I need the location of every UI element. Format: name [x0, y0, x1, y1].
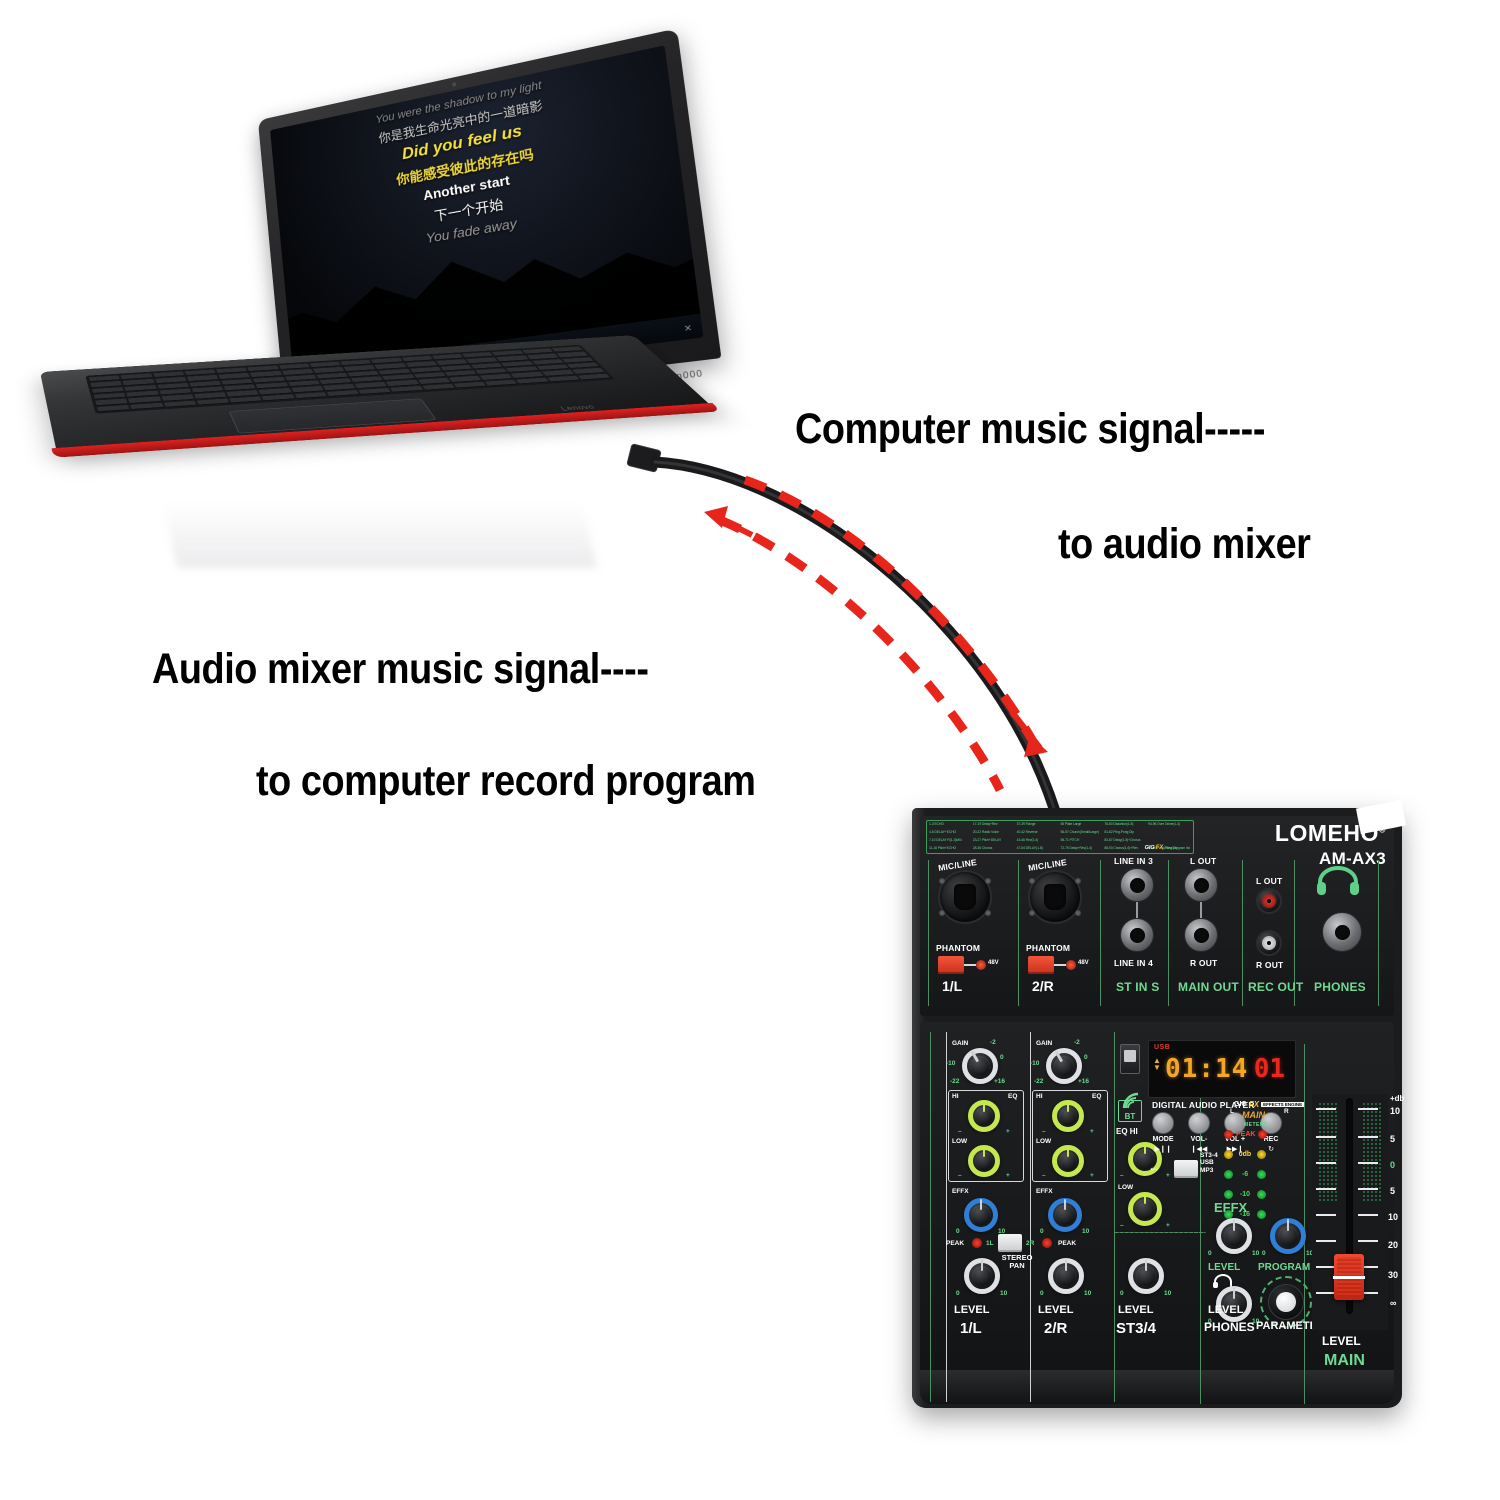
effx-label-1: EFFX [952, 1188, 969, 1195]
eq-low-knob-1[interactable] [968, 1145, 1000, 1177]
fader-texture-right [1362, 1102, 1382, 1202]
level-knob-2[interactable] [1048, 1258, 1084, 1294]
line-in-3-jack[interactable] [1120, 868, 1154, 902]
level-label-1: LEVEL [954, 1304, 989, 1316]
gain-knob-1[interactable] [962, 1048, 998, 1084]
eq-plus-2: + [1090, 1128, 1094, 1135]
gain-scale: -2 [990, 1039, 996, 1046]
fx-entry: 83-87 Delay(1-5)+Chorus [1104, 839, 1147, 843]
peak-led-1 [972, 1238, 982, 1248]
xlr-combo-jack-2[interactable] [1028, 870, 1082, 924]
fader-scale-m5: 5 [1390, 1186, 1395, 1196]
effx-master-max: 10 [1252, 1250, 1259, 1257]
main-fader-zone [1312, 1094, 1388, 1330]
program-knob[interactable] [1270, 1218, 1306, 1254]
mixer-front-lip [920, 1370, 1394, 1404]
eq-plus-1: + [1006, 1172, 1010, 1179]
gain-scale: -22 [1034, 1078, 1043, 1085]
effx-knob-2[interactable] [1048, 1198, 1082, 1232]
xlr-combo-jack-1[interactable] [938, 870, 992, 924]
st-level-min: 0 [1120, 1290, 1124, 1297]
vu-row-label: -10 [1236, 1191, 1254, 1198]
laptop-base: Lenovo [40, 335, 713, 453]
phones-jack[interactable] [1322, 912, 1362, 952]
eq-low-knob-2[interactable] [1052, 1145, 1084, 1177]
vu-row: 0db [1224, 1150, 1266, 1159]
rec-out-r-rca[interactable] [1256, 930, 1282, 956]
st-low-label: LOW [1118, 1184, 1133, 1191]
fader-texture-left [1318, 1102, 1338, 1202]
bt-badge: BT [1118, 1100, 1142, 1122]
st-level-max: 10 [1164, 1290, 1171, 1297]
fx-column: 1-3 ECHO 4-6 DELAY+ECHO 7-10 DELAY R(1-3… [929, 823, 972, 851]
stereo-pan-label: STEREO PAN [994, 1254, 1040, 1271]
fx-column: 76-80 Distortion(1-5) 81-82 Ping-Pong Dl… [1104, 823, 1147, 851]
audio-mixer-device: 1-3 ECHO 4-6 DELAY+ECHO 7-10 DELAY R(1-3… [912, 808, 1402, 1408]
usb-port[interactable] [1120, 1044, 1140, 1074]
fx-entry: 4-6 DELAY+ECHO [929, 831, 972, 835]
front-divider [1114, 1032, 1115, 1402]
eq-label-2: EQ [1092, 1093, 1101, 1100]
front-divider [1200, 1044, 1201, 1404]
source-mp3: MP3 [1200, 1167, 1218, 1174]
fader-scale-10: 10 [1390, 1106, 1400, 1116]
line-in-4-jack[interactable] [1120, 918, 1154, 952]
eq-hi-label-1: HI [952, 1093, 959, 1100]
gain-knob-2[interactable] [1046, 1048, 1082, 1084]
gain-scale: 0 [1000, 1054, 1004, 1061]
bt-text: BT [1125, 1112, 1136, 1121]
st-level-label: LEVEL [1118, 1304, 1153, 1316]
fx-entry: 1-3 ECHO [929, 823, 972, 827]
arrow-mixer-to-computer [720, 520, 1000, 790]
phantom-led-1 [976, 960, 986, 970]
effx-min-2: 0 [1040, 1228, 1044, 1235]
eq-plus-1: + [1006, 1128, 1010, 1135]
level-label-2: LEVEL [1038, 1304, 1073, 1316]
peak-led-2 [1042, 1238, 1052, 1248]
fx-column: 17-19 Delay+Rev 20-22 Radio Voice 23-27 … [973, 823, 1016, 851]
eq-hi-knob-1[interactable] [968, 1100, 1000, 1132]
fx-column: 37-39 Flange 40-42 Reverse 43-46 Rev(3-4… [1017, 823, 1060, 851]
jack-link [1200, 902, 1202, 918]
st-channel-id: ST3/4 [1116, 1320, 1156, 1337]
level-min-2: 0 [1040, 1290, 1044, 1297]
main-fader-level-label: LEVEL [1322, 1334, 1361, 1348]
fader-scale-m10: 10 [1388, 1212, 1398, 1222]
annotation-computer-signal: Computer music signal----- [795, 405, 1265, 454]
webcam-icon [452, 82, 457, 87]
led-display: USB ▲▼ 01:14 01 [1148, 1040, 1296, 1098]
vu-main-label: MAIN [1242, 1110, 1265, 1120]
effx-min-1: 0 [956, 1228, 960, 1235]
phantom-trace-2 [1054, 964, 1066, 966]
peak-label-2: PEAK [1058, 1240, 1076, 1247]
level-min-1: 0 [956, 1290, 960, 1297]
panel-divider [1242, 860, 1243, 1006]
panel-divider [928, 860, 929, 1006]
eq-hi-label-2: HI [1036, 1093, 1043, 1100]
front-divider [946, 1032, 947, 1402]
peak-tag-1: 1L [986, 1240, 994, 1247]
gigfx2-gig: GIG [1234, 1101, 1247, 1108]
vol-down-label: VOL- [1182, 1136, 1216, 1143]
source-usb: USB [1200, 1159, 1218, 1166]
eq-plus-2: + [1090, 1172, 1094, 1179]
rec-out-group-label: REC OUT [1248, 980, 1303, 994]
vol-down-button[interactable] [1188, 1112, 1210, 1134]
prev-track-icon: ❙◀◀ [1182, 1145, 1216, 1153]
phantom-led-2 [1066, 960, 1076, 970]
main-fader-handle[interactable] [1334, 1254, 1364, 1300]
main-l-out-label: L OUT [1190, 856, 1216, 866]
phantom-voltage-2: 48V [1078, 960, 1089, 966]
eq-hi-knob-2[interactable] [1052, 1100, 1084, 1132]
fx-entry: 72-75 Delay+Rev(1-4) [1060, 847, 1103, 851]
fx-entry: 40-42 Reverse [1017, 831, 1060, 835]
fx-entry: 17-19 Delay+Rev [973, 823, 1016, 827]
fx-entry: 47-54 DELAY(1-8) [1017, 847, 1060, 851]
phones-sub-label: PHONES [1204, 1320, 1255, 1334]
line-in-4-label: LINE IN 4 [1114, 958, 1153, 968]
laptop-reflection [163, 502, 597, 568]
fx-column: 55 Plate Large 56-57 Church(Small/Large)… [1060, 823, 1103, 851]
gigfx2-fx: FX [1249, 1100, 1259, 1109]
vu-left-label: L [1230, 1108, 1234, 1115]
phantom-switch-2[interactable] [1028, 956, 1054, 974]
effx-knob-1[interactable] [964, 1198, 998, 1232]
fader-scale-m30: 30 [1388, 1270, 1398, 1280]
rec-l-out-label: L OUT [1256, 876, 1282, 886]
fader-scale-m20: 20 [1388, 1240, 1398, 1250]
gigfx-fx-text: FX [1156, 845, 1164, 851]
effx-max-2: 10 [1082, 1228, 1089, 1235]
peak-label-1: PEAK [946, 1240, 964, 1247]
program-label: PROGRAM [1258, 1262, 1310, 1273]
arrow-shaft-to-mixer [1012, 712, 1040, 748]
eq-minus-2: – [1042, 1172, 1046, 1179]
level-max-2: 10 [1084, 1290, 1091, 1297]
panel-divider [1018, 860, 1019, 1006]
effect-program-list: 1-3 ECHO 4-6 DELAY+ECHO 7-10 DELAY R(1-3… [926, 820, 1194, 854]
fader-scale-5: 5 [1390, 1134, 1395, 1144]
close-icon[interactable]: ✕ [683, 322, 693, 333]
gigfx-effects-engine-logo: GIG FX EFFECTS ENGINE [1234, 1100, 1304, 1109]
vu-row-label: 0db [1236, 1151, 1254, 1158]
dashed-divider [1114, 1232, 1206, 1233]
rec-out-l-rca[interactable] [1256, 888, 1282, 914]
rec-r-out-label: R OUT [1256, 960, 1283, 970]
usb-indicator: USB [1154, 1044, 1170, 1051]
gain-scale: -22 [950, 1078, 959, 1085]
fx-entry: 43-46 Rev(3-4) [1017, 839, 1060, 843]
gigfx2-engine: EFFECTS ENGINE [1261, 1102, 1304, 1107]
st-in-group-label: ST IN S [1116, 980, 1159, 994]
phones-group-label: PHONES [1314, 980, 1366, 994]
fader-scale-0: 0 [1390, 1160, 1395, 1170]
fx-entry: 7-10 DELAY R(1-3)MI4 [929, 839, 972, 843]
fx-entry: 88-93 Chorus(1-6)+Rev [1104, 847, 1147, 851]
gain-scale: -10 [1030, 1060, 1039, 1067]
eq-low-label-1: LOW [952, 1138, 967, 1145]
source-st34: ST3-4 [1200, 1152, 1218, 1159]
arrow-shaft-to-computer [718, 518, 752, 535]
eq-low-label-2: LOW [1036, 1138, 1051, 1145]
laptop-device: You were the shadow to my light 你是我生命光亮中… [30, 110, 710, 570]
gain-label-1: GAIN [952, 1040, 968, 1047]
channel-2-strip-id: 2/R [1044, 1320, 1067, 1337]
effx-master-knob[interactable] [1216, 1218, 1252, 1254]
phantom-label-2: PHANTOM [1026, 943, 1070, 953]
eq-label-1: EQ [1008, 1093, 1017, 1100]
fx-entry: 37-39 Flange [1017, 823, 1060, 827]
line-in-3-label: LINE IN 3 [1114, 856, 1153, 866]
brand-block: LOMEHO® AM-AX3 [1275, 820, 1386, 869]
vu-row: -6 [1224, 1170, 1266, 1179]
front-divider [1030, 1032, 1031, 1402]
level-max-1: 10 [1000, 1290, 1007, 1297]
main-out-r-jack[interactable] [1184, 918, 1218, 952]
annotation-to-computer: to computer record program [256, 757, 755, 806]
phantom-trace-1 [964, 964, 976, 966]
effx-master-min: 0 [1208, 1250, 1212, 1257]
stereo-pan-switch[interactable] [998, 1234, 1022, 1252]
phantom-label-1: PHANTOM [936, 943, 980, 953]
fx-entry: 56-57 Church(Small/Large) [1060, 831, 1103, 835]
channel-1-id: 1/L [942, 978, 962, 994]
playback-arrows-icon: ▲▼ [1153, 1057, 1161, 1071]
mode-icon: ▶❙❙ [1146, 1145, 1180, 1153]
channel-2-id: 2/R [1032, 978, 1054, 994]
gigfx-logo: GIG FX Effect program list [1145, 845, 1190, 851]
effx-master-level-label: LEVEL [1208, 1262, 1240, 1273]
track-number: 01 [1254, 1054, 1285, 1084]
arrowhead-to-mixer [1024, 735, 1048, 757]
diagram-canvas: You were the shadow to my light 你是我生命光亮中… [0, 0, 1500, 1500]
eq-low-knob-st[interactable] [1128, 1192, 1162, 1226]
fx-entry: 23-27 Pitch+DELAY [973, 839, 1016, 843]
annotation-mixer-signal: Audio mixer music signal---- [152, 645, 648, 694]
brand-text: LOMEHO [1275, 820, 1379, 846]
fx-entry: 11-16 Pitch+ECHO [929, 847, 972, 851]
phantom-switch-1[interactable] [938, 956, 964, 974]
mode-label: MODE [1146, 1136, 1180, 1143]
eq-minus-1: – [958, 1172, 962, 1179]
vu-meters-label: METERS [1244, 1122, 1268, 1128]
fx-entry: 20-22 Radio Voice [973, 831, 1016, 835]
gain-label-2: GAIN [1036, 1040, 1052, 1047]
fx-entry: 76-80 Distortion(1-5) [1104, 823, 1147, 827]
headphones-icon [1316, 866, 1360, 896]
main-out-group-label: MAIN OUT [1178, 980, 1239, 994]
annotation-to-mixer: to audio mixer [1058, 520, 1310, 569]
vu-right-label: R [1284, 1108, 1289, 1115]
front-divider [930, 1032, 931, 1402]
fx-entry: 94-96 Over Driver(1-3) [1148, 823, 1191, 827]
fx-entry: 58-71 PITCH [1060, 839, 1103, 843]
source-select-switch[interactable] [1174, 1160, 1198, 1178]
eq-minus-1: – [958, 1128, 962, 1135]
track-time: 01:14 [1165, 1054, 1248, 1084]
vu-row-label: PEAK [1236, 1131, 1255, 1138]
gain-scale: 0 [1084, 1054, 1088, 1061]
main-fader-sub-label: MAIN [1324, 1352, 1365, 1370]
fader-db-label: +db [1390, 1094, 1404, 1103]
fader-scale-inf: ∞ [1390, 1298, 1396, 1308]
program-min: 0 [1262, 1250, 1266, 1257]
peak-tag-2: 2R [1026, 1240, 1034, 1247]
mode-button[interactable] [1152, 1112, 1174, 1134]
parameter-knob[interactable] [1268, 1284, 1304, 1320]
effx-master-label: EFFX [1214, 1200, 1247, 1215]
fx-entry: 55 Plate Large [1060, 823, 1103, 827]
vu-row: -10 [1224, 1190, 1266, 1199]
arrow-icon: ← [1148, 1160, 1160, 1174]
channel-1-strip-id: 1/L [960, 1320, 982, 1337]
gigfx-caption: Effect program list [1164, 846, 1190, 850]
st-low-plus: + [1166, 1222, 1170, 1229]
main-r-out-label: R OUT [1190, 958, 1217, 968]
st-eq-minus: – [1120, 1172, 1124, 1179]
eq-minus-2: – [1042, 1128, 1046, 1135]
phones-level-label: LEVEL [1208, 1304, 1243, 1316]
panel-divider [1100, 860, 1101, 1006]
jack-link [1136, 902, 1138, 918]
arrow-computer-to-mixer [745, 480, 1035, 745]
main-out-l-jack[interactable] [1184, 868, 1218, 902]
panel-divider [1378, 860, 1379, 1006]
fx-entry: 81-82 Ping-Pong Dly [1104, 831, 1147, 835]
eq-hi-st-label: EQ HI [1116, 1128, 1138, 1136]
registered-mark: ® [1379, 824, 1386, 834]
source-switch-labels: ST3-4 USB MP3 [1200, 1152, 1218, 1174]
vu-row: PEAK [1224, 1130, 1267, 1139]
gain-scale: +16 [994, 1078, 1005, 1085]
gain-scale: -10 [946, 1060, 955, 1067]
gain-scale: +16 [1078, 1078, 1089, 1085]
level-knob-st34[interactable] [1128, 1258, 1164, 1294]
panel-divider [1168, 860, 1169, 1006]
laptop-screen: You were the shadow to my light 你是我生命光亮中… [270, 45, 703, 388]
st-low-minus: – [1120, 1222, 1124, 1229]
vu-row-label: -6 [1236, 1171, 1254, 1178]
st-eq-plus: + [1166, 1172, 1170, 1179]
fx-entry: 28-36 Chorus [973, 847, 1016, 851]
gigfx-gig-text: GIG [1145, 845, 1155, 851]
effx-label-2: EFFX [1036, 1188, 1053, 1195]
phantom-voltage-1: 48V [988, 960, 999, 966]
brand-name: LOMEHO® [1275, 820, 1386, 847]
gain-scale: -2 [1074, 1039, 1080, 1046]
